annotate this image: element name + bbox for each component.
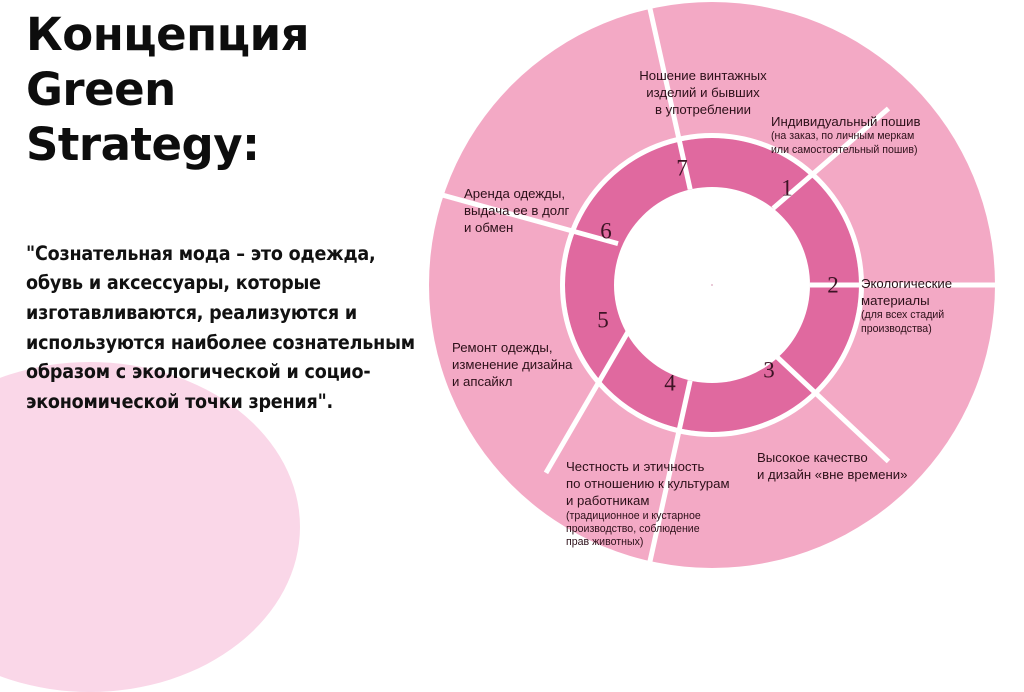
segment-number-4: 4 bbox=[664, 370, 676, 395]
segment-label-5: Ремонт одежды, изменение дизайна и апсай… bbox=[452, 322, 612, 391]
segment-label-6: Аренда одежды, выдача ее в долг и обмен bbox=[464, 168, 624, 237]
center-dot bbox=[711, 284, 713, 286]
segment-label-1-title: Индивидуальный пошив bbox=[771, 114, 920, 129]
segment-number-1: 1 bbox=[781, 175, 793, 200]
segment-label-1-subtitle: (на заказ, по личным меркам или самостоя… bbox=[771, 130, 985, 157]
page-title: Концепция Green Strategy: bbox=[26, 0, 456, 173]
segment-label-3: Высокое качество и дизайн «вне времени» bbox=[757, 432, 967, 483]
segment-number-3: 3 bbox=[763, 357, 775, 382]
segment-label-2-subtitle: (для всех стадий производства) bbox=[861, 309, 1011, 336]
segment-label-4: Честность и этичность по отношению к кул… bbox=[566, 441, 786, 567]
segment-label-1: Индивидуальный пошив (на заказ, по личны… bbox=[771, 96, 985, 174]
left-text-column: Концепция Green Strategy: "Сознательная … bbox=[26, 0, 456, 416]
segment-label-4-title: Честность и этичность по отношению к кул… bbox=[566, 459, 730, 508]
segment-label-6-title: Аренда одежды, выдача ее в долг и обмен bbox=[464, 186, 569, 235]
segment-label-2: Экологические материалы (для всех стадий… bbox=[861, 258, 1011, 353]
segment-number-7: 7 bbox=[676, 155, 688, 180]
segment-label-2-title: Экологические материалы bbox=[861, 276, 952, 308]
definition-quote: "Сознательная мода – это одежда, обувь и… bbox=[26, 173, 426, 417]
slide-canvas: Концепция Green Strategy: "Сознательная … bbox=[0, 0, 1024, 574]
segment-label-7-title: Ношение винтажных изделий и бывших в упо… bbox=[639, 68, 766, 117]
segment-label-5-title: Ремонт одежды, изменение дизайна и апсай… bbox=[452, 340, 573, 389]
segment-number-2: 2 bbox=[827, 272, 839, 297]
segment-label-4-subtitle: (традиционное и кустарное производство, … bbox=[566, 510, 786, 550]
